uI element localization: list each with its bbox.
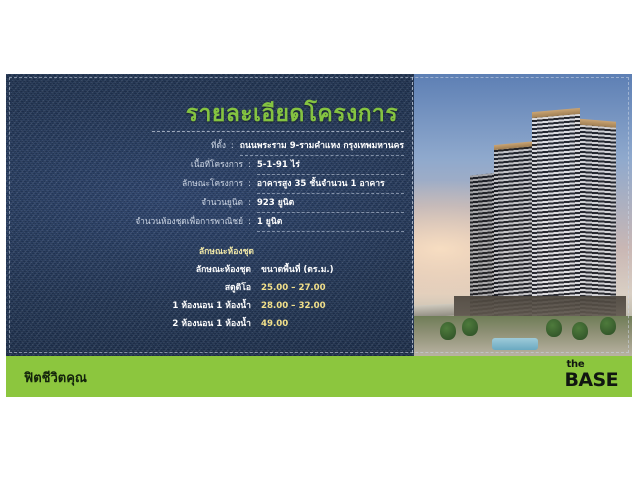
spec-row: ลักษณะโครงการ : อาคารสูง 35 ชั้นจำนวน 1 … (6, 176, 412, 195)
spec-label: ที่ตั้ง (6, 138, 231, 152)
content-column: รายละเอียดโครงการ ที่ตั้ง : ถนนพระราม 9-… (6, 74, 412, 356)
spec-label: จำนวนยูนิต (6, 195, 248, 209)
title-divider (152, 131, 404, 132)
unit-type-cell: 1 ห้องนอน 1 ห้องน้ำ (6, 298, 261, 312)
spec-row: เนื้อที่โครงการ : 5-1-91 ไร่ (6, 157, 412, 176)
spec-label: จำนวนห้องชุดเพื่อการพาณิชย์ (6, 214, 248, 228)
unit-type-table: ลักษณะห้องชุด ขนาดพื้นที่ (ตร.ม.) สตูดิโ… (6, 262, 412, 334)
spec-row: จำนวนยูนิต : 923 ยูนิต (6, 195, 412, 214)
spec-row: ที่ตั้ง : ถนนพระราม 9-รามคำแหง กรุงเทพมห… (6, 138, 412, 157)
spec-colon: : (248, 159, 257, 169)
tagline-text: ฟิตชีวิตคุณ (24, 367, 87, 388)
unit-section-heading: ลักษณะห้องชุด (6, 244, 254, 258)
slide-canvas: รายละเอียดโครงการ ที่ตั้ง : ถนนพระราม 9-… (0, 0, 640, 480)
spec-label: ลักษณะโครงการ (6, 176, 248, 190)
spec-value: 1 ยูนิต (257, 214, 404, 232)
unit-size-cell: 28.00 – 32.00 (261, 301, 412, 311)
unit-type-cell: สตูดิโอ (6, 280, 261, 294)
unit-table-row: สตูดิโอ 25.00 – 27.00 (6, 280, 412, 298)
unit-type-cell: 2 ห้องนอน 1 ห้องน้ำ (6, 316, 261, 330)
unit-size-column-header: ขนาดพื้นที่ (ตร.ม.) (261, 262, 412, 276)
spec-value: 923 ยูนิต (257, 195, 404, 213)
unit-size-cell: 25.00 – 27.00 (261, 283, 412, 293)
tree-icon (440, 322, 456, 340)
vertical-stitch-divider (412, 77, 413, 353)
tree-icon (600, 317, 616, 335)
spec-row: จำนวนห้องชุดเพื่อการพาณิชย์ : 1 ยูนิต (6, 214, 412, 233)
logo-base-text: BASE (565, 371, 618, 390)
spec-colon: : (231, 140, 240, 150)
unit-table-header-row: ลักษณะห้องชุด ขนาดพื้นที่ (ตร.ม.) (6, 262, 412, 280)
spec-label: เนื้อที่โครงการ (6, 157, 248, 171)
building-photo (414, 74, 632, 356)
spec-colon: : (248, 178, 257, 188)
swimming-pool (492, 338, 538, 350)
unit-table-row: 2 ห้องนอน 1 ห้องน้ำ 49.00 (6, 316, 412, 334)
spec-colon: : (248, 197, 257, 207)
page-title: รายละเอียดโครงการ (186, 96, 398, 132)
tree-icon (462, 318, 478, 336)
tree-icon (572, 322, 588, 340)
spec-value: 5-1-91 ไร่ (257, 157, 404, 175)
tree-icon (546, 319, 562, 337)
spec-colon: : (248, 216, 257, 226)
unit-size-cell: 49.00 (261, 319, 412, 329)
unit-type-column-header: ลักษณะห้องชุด (6, 262, 261, 276)
spec-value: ถนนพระราม 9-รามคำแหง กรุงเทพมหานคร (240, 138, 404, 156)
the-base-logo: the BASE (565, 360, 618, 390)
unit-table-row: 1 ห้องนอน 1 ห้องน้ำ 28.00 – 32.00 (6, 298, 412, 316)
spec-list: ที่ตั้ง : ถนนพระราม 9-รามคำแหง กรุงเทพมห… (6, 138, 412, 233)
footer-bar: ฟิตชีวิตคุณ the BASE (6, 356, 632, 397)
spec-value: อาคารสูง 35 ชั้นจำนวน 1 อาคาร (257, 176, 404, 194)
